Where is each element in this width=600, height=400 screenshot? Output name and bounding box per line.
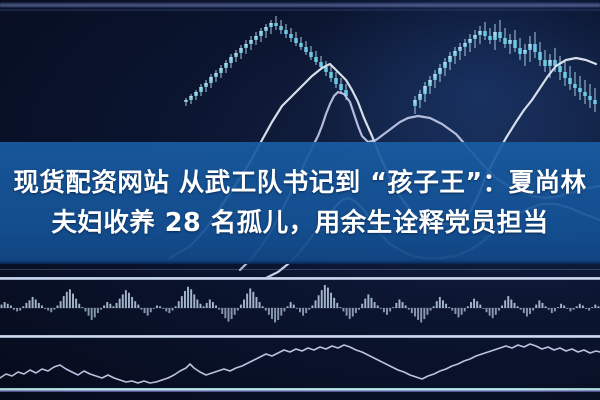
panel-divider-soft xyxy=(0,269,600,270)
candlestick-group xyxy=(184,16,597,114)
panel-divider-bottom xyxy=(0,388,600,392)
indicator-line-panel xyxy=(0,338,600,390)
headline-line-1: 现货配资网站 从武工队书记到 “孩子王”：夏尚林 xyxy=(13,163,586,203)
macd-histogram-panel xyxy=(0,280,600,336)
macd-histogram-svg xyxy=(0,280,600,336)
top-light-streak xyxy=(0,2,600,8)
chart-banner: 现货配资网站 从武工队书记到 “孩子王”：夏尚林 夫妇收养 28 名孤儿，用余生… xyxy=(0,0,600,400)
indicator-line-svg xyxy=(0,338,600,390)
macd-bar-group xyxy=(1,285,600,322)
headline-band: 现货配资网站 从武工队书记到 “孩子王”：夏尚林 夫妇收养 28 名孤儿，用余生… xyxy=(0,142,600,264)
headline-line-2: 夫妇收养 28 名孤儿，用余生诠释党员担当 xyxy=(51,203,548,243)
indicator-series-line xyxy=(0,344,600,383)
